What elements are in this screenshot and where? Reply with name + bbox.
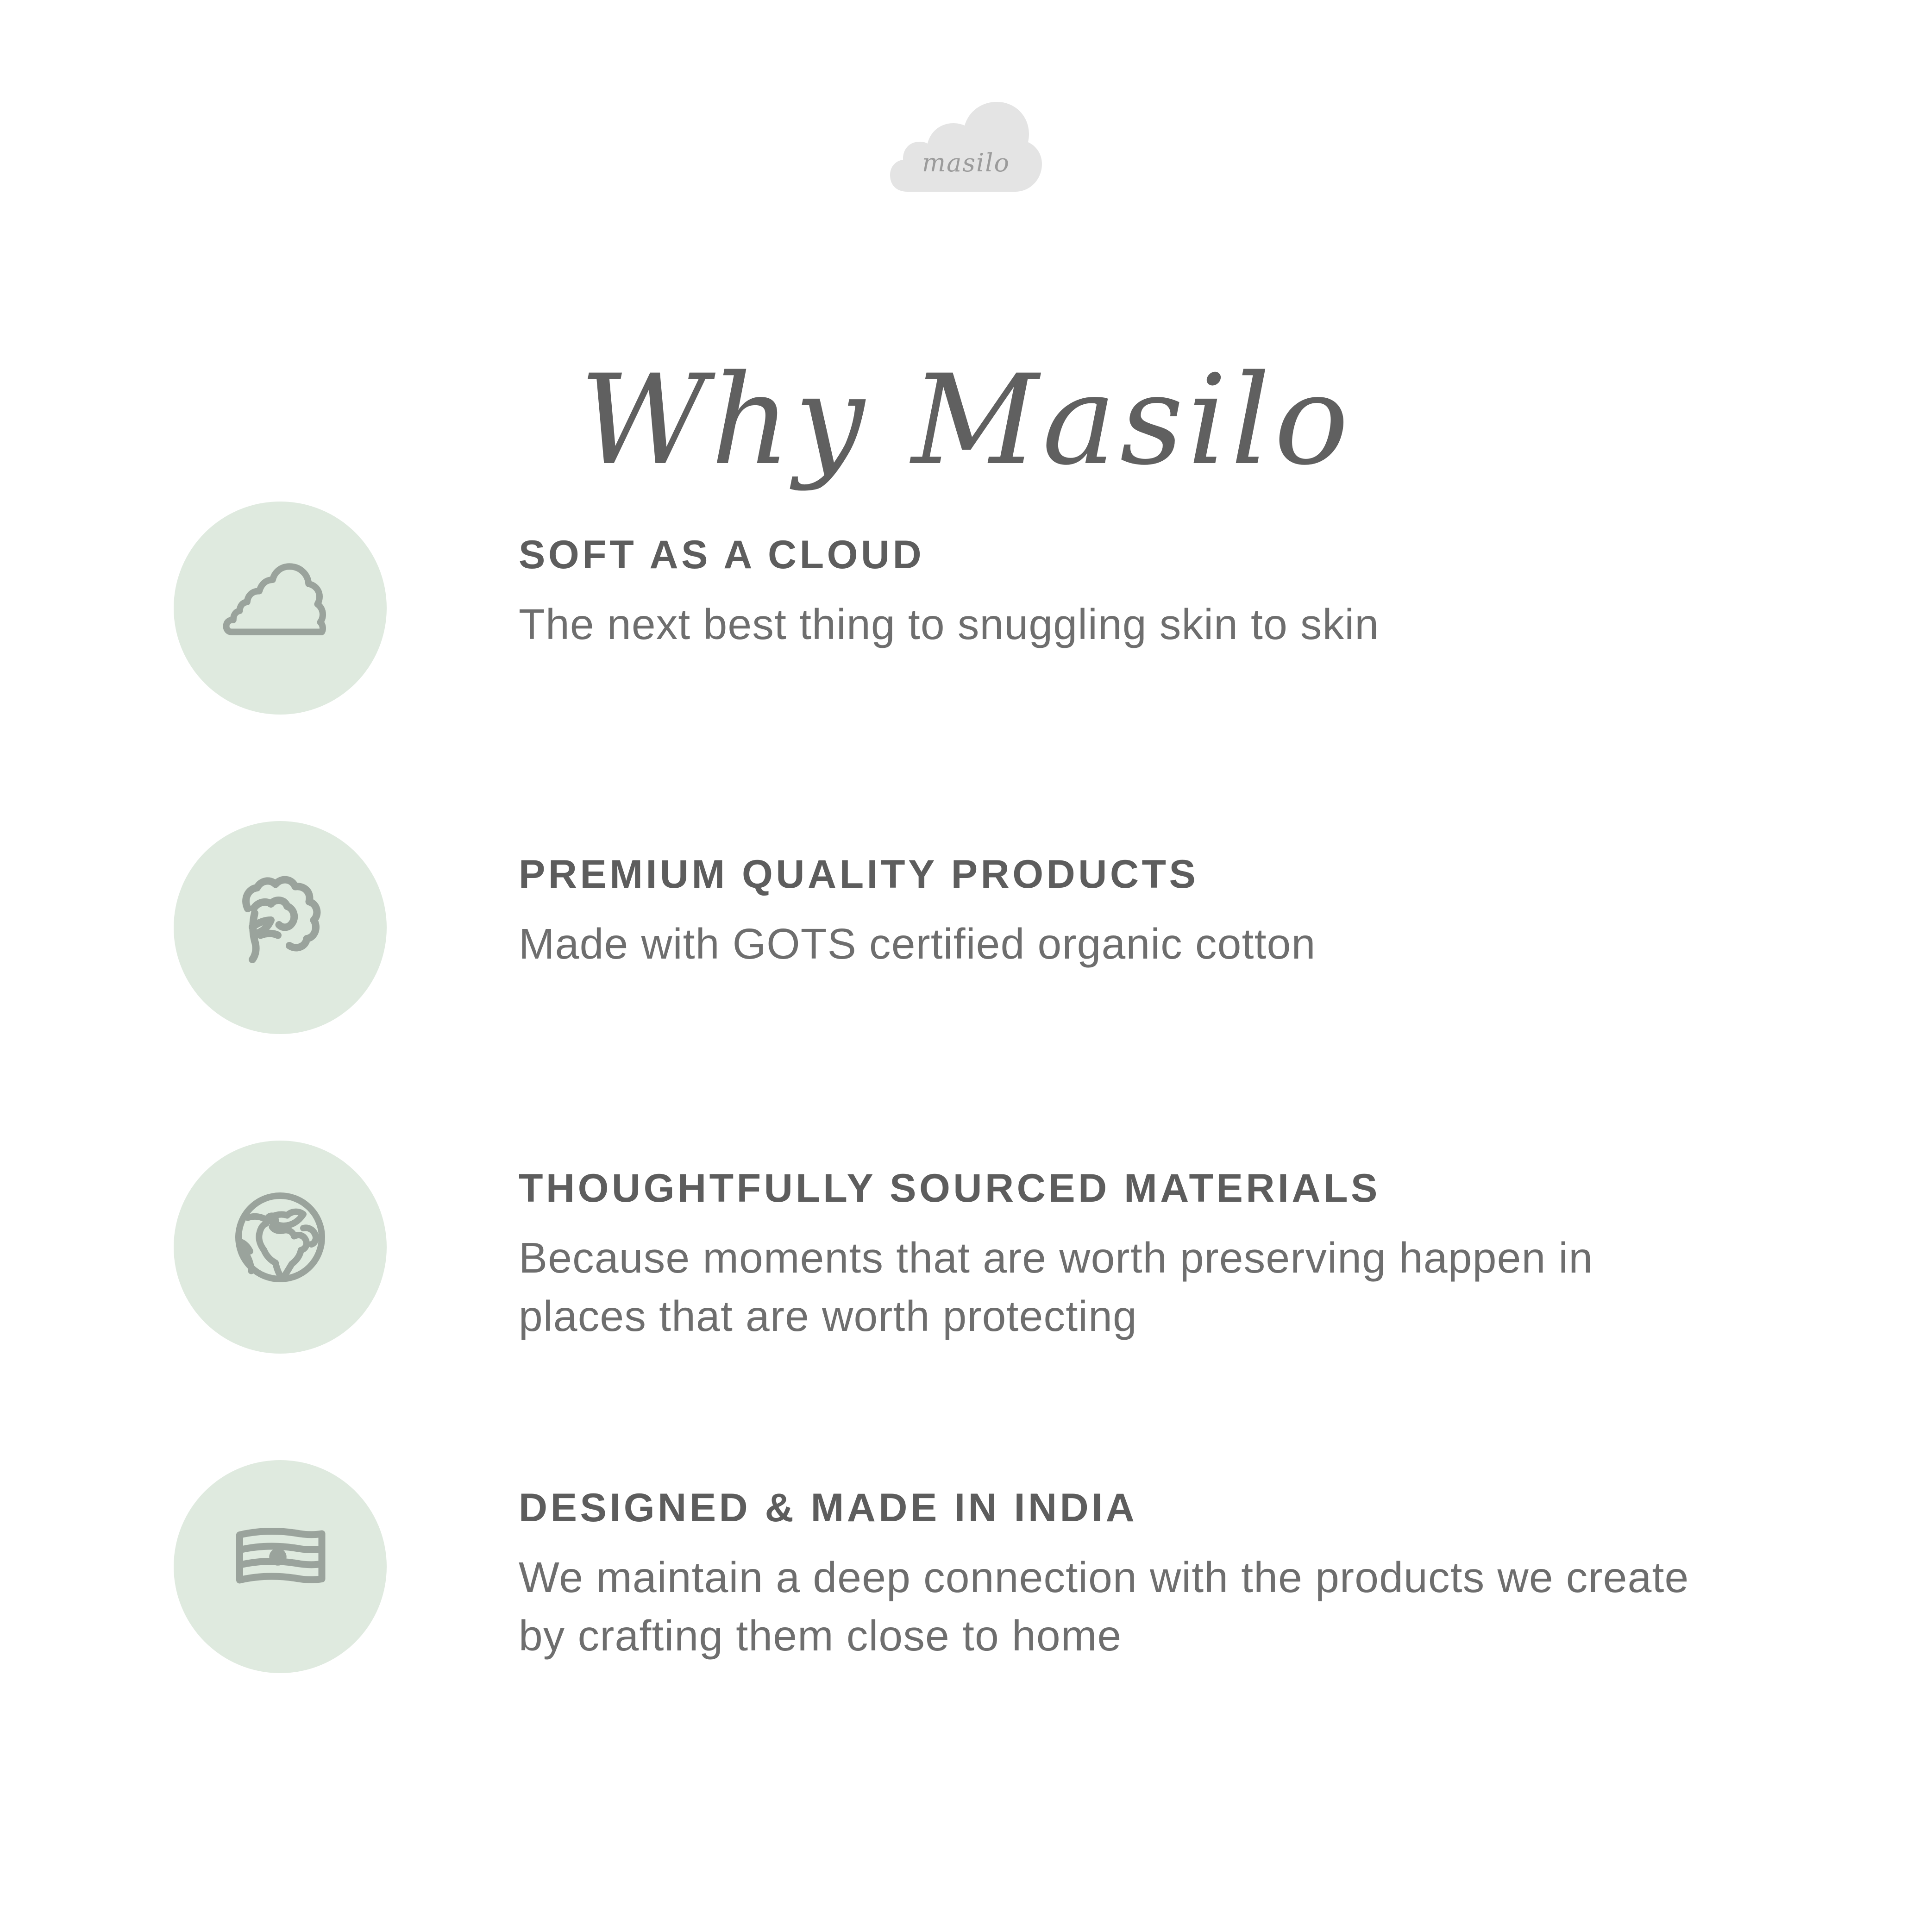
feature-text-block: PREMIUM QUALITY PRODUCTS Made with GOTS … [387,801,1706,973]
feature-description: The next best thing to snuggling skin to… [519,595,1706,653]
globe-icon [222,1179,338,1295]
page-title: Why Masilo [0,356,1932,486]
feature-row: DESIGNED & MADE IN INDIA We maintain a d… [0,1440,1932,1760]
feature-row: THOUGHTFULLY SOURCED MATERIALS Because m… [0,1121,1932,1440]
brand-logo: masilo [0,101,1932,212]
feature-heading: PREMIUM QUALITY PRODUCTS [519,853,1706,896]
feature-icon-container [174,1121,387,1334]
feature-text-block: THOUGHTFULLY SOURCED MATERIALS Because m… [387,1121,1706,1346]
cloud-icon [222,540,338,656]
feature-text-block: DESIGNED & MADE IN INDIA We maintain a d… [387,1440,1706,1665]
cloud-logo-icon: masilo [887,101,1045,203]
brand-wordmark-text: masilo [922,148,1010,177]
feature-list: SOFT AS A CLOUD The next best thing to s… [0,482,1932,1760]
feature-heading: DESIGNED & MADE IN INDIA [519,1487,1706,1530]
cotton-boll-icon [222,860,338,976]
feature-description: Made with GOTS certified organic cotton [519,915,1706,973]
feature-icon-container [174,801,387,1014]
feature-row: SOFT AS A CLOUD The next best thing to s… [0,482,1932,801]
feature-icon-container [174,482,387,695]
feature-description: Because moments that are worth preservin… [519,1229,1706,1346]
feature-heading: THOUGHTFULLY SOURCED MATERIALS [519,1167,1706,1210]
why-masilo-page: masilo Why Masilo SOFT AS A CLOUD The ne… [0,0,1932,1932]
feature-text-block: SOFT AS A CLOUD The next best thing to s… [387,482,1706,653]
feature-heading: SOFT AS A CLOUD [519,533,1706,577]
feature-icon-container [174,1440,387,1653]
feature-description: We maintain a deep connection with the p… [519,1548,1706,1665]
feature-row: PREMIUM QUALITY PRODUCTS Made with GOTS … [0,801,1932,1121]
india-flag-icon [222,1499,338,1615]
